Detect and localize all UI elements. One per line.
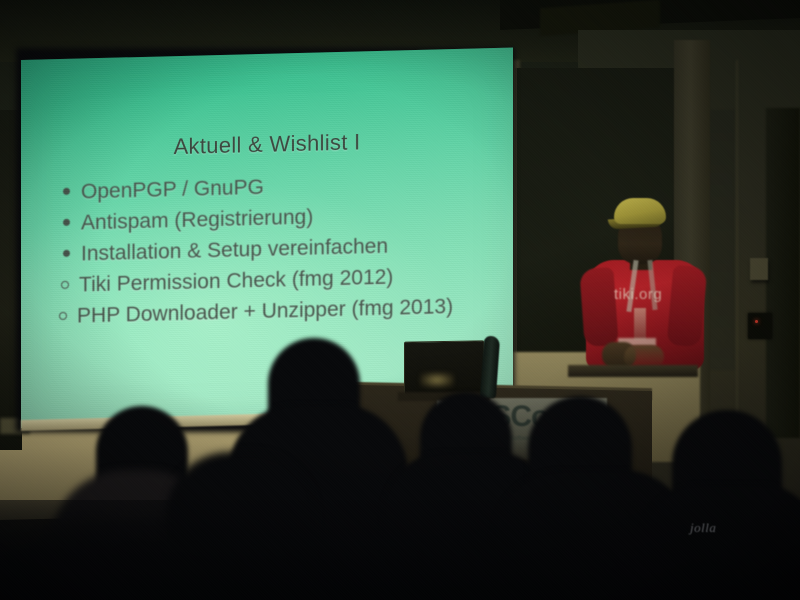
slide-bullet-item: Tiki Permission Check (fmg 2012) (61, 263, 505, 298)
audience-shirt-logo: jolla (690, 520, 716, 536)
bullet-filled-icon (63, 211, 81, 235)
status-led-icon (755, 320, 758, 323)
slide-bullet-label: PHP Downloader + Unzipper (fmg 2013) (77, 295, 453, 329)
slide-bullet-item: OpenPGP / GnuPG (63, 170, 505, 205)
conference-photo: Aktuell & Wishlist I OpenPGP / GnuPG Ant… (0, 0, 800, 600)
slide-title: Aktuell & Wishlist I (21, 126, 513, 164)
speaker-cap (614, 198, 666, 224)
speaker-person: tiki.org (578, 190, 738, 420)
speaker-right-sleeve (667, 265, 708, 348)
door-edge (766, 108, 800, 438)
slide-bullet-list: OpenPGP / GnuPG Antispam (Registrierung)… (63, 170, 505, 336)
bullet-hollow-icon (61, 274, 79, 298)
light-switch[interactable] (750, 258, 768, 280)
laptop-glow (420, 372, 454, 388)
speaker-desk-edge (568, 365, 698, 377)
speaker-shirt-text: tiki.org (614, 286, 662, 303)
bullet-filled-icon (63, 242, 81, 266)
slide-bullet-label: Tiki Permission Check (fmg 2012) (79, 266, 393, 298)
av-control-panel[interactable] (748, 313, 772, 339)
laptop-screen (404, 340, 484, 398)
slide-bullet-item: Installation & Setup vereinfachen (63, 232, 505, 267)
speaker-left-sleeve (579, 267, 618, 347)
conference-badge (634, 308, 646, 340)
slide-bullet-item: Antispam (Registrierung) (63, 201, 505, 236)
bullet-hollow-icon (59, 305, 77, 329)
bullet-filled-icon (63, 180, 81, 204)
slide-bullet-item: PHP Downloader + Unzipper (fmg 2013) (59, 294, 505, 329)
slide-bullet-label: Antispam (Registrierung) (81, 206, 313, 236)
slide-bullet-label: OpenPGP / GnuPG (81, 176, 264, 205)
foreground-darkness (0, 500, 800, 600)
slide-bullet-label: Installation & Setup vereinfachen (81, 235, 388, 267)
